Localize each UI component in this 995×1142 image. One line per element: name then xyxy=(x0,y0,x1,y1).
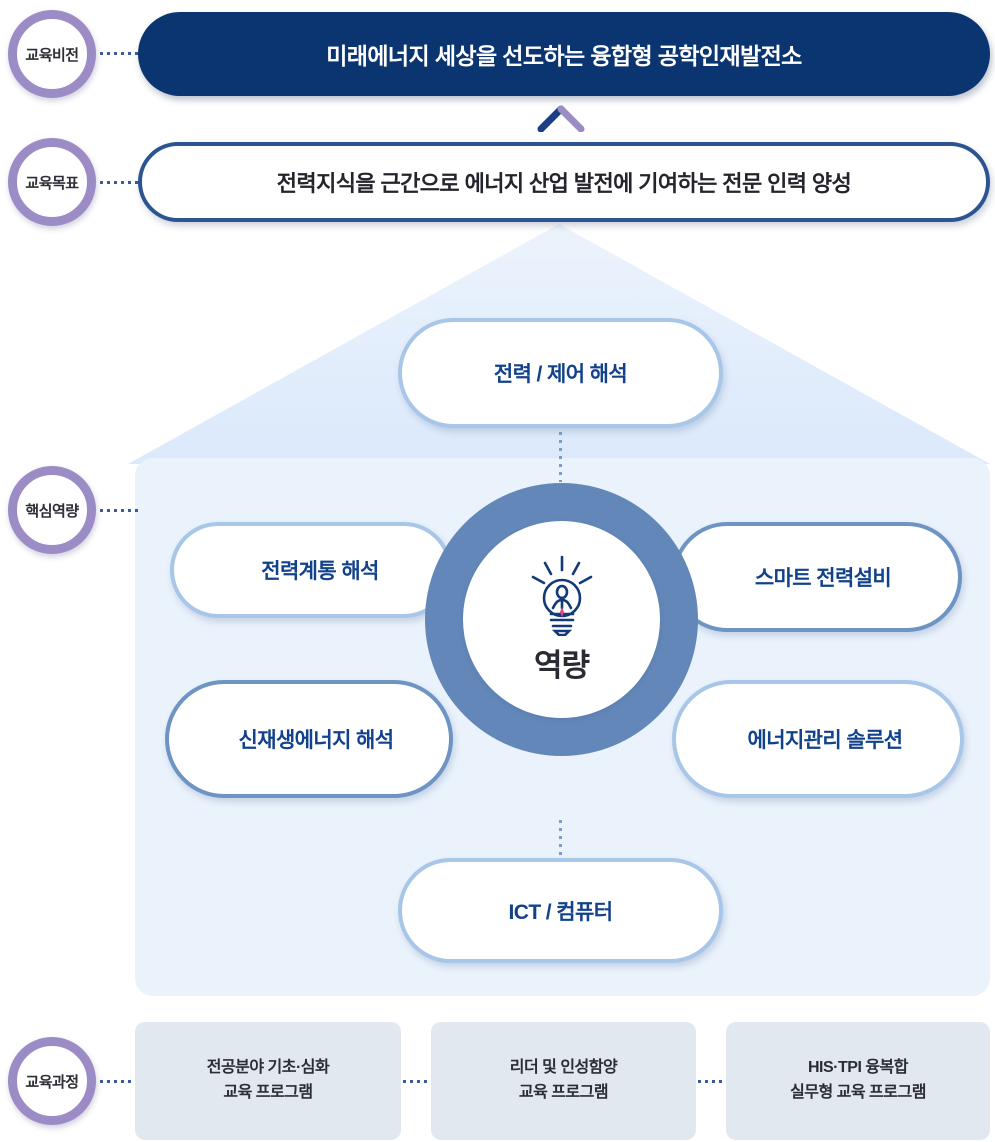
diagram-canvas: 교육비전 미래에너지 세상을 선도하는 융합형 공학인재발전소 교육목표 전력지… xyxy=(0,0,995,1142)
capability-pill-right-upper[interactable]: 스마트 전력설비 xyxy=(672,522,962,632)
capability-pill-top[interactable]: 전력 / 제어 해석 xyxy=(398,318,723,428)
label-core-text: 핵심역량 xyxy=(25,500,78,521)
curriculum-box-1[interactable]: 전공분야 기초·심화 교육 프로그램 xyxy=(135,1022,401,1140)
vision-banner: 미래에너지 세상을 선도하는 융합형 공학인재발전소 xyxy=(138,12,990,96)
label-circle-vision: 교육비전 xyxy=(8,10,96,98)
label-vision-text: 교육비전 xyxy=(25,44,78,65)
core-center-label: 역량 xyxy=(534,640,589,685)
core-ring-inner: 역량 xyxy=(463,521,660,718)
capability-label-top: 전력 / 제어 해석 xyxy=(494,358,627,388)
capability-pill-bottom[interactable]: ICT / 컴퓨터 xyxy=(398,858,723,963)
spoke-top xyxy=(559,432,562,482)
lightbulb-rocket-icon xyxy=(527,554,597,636)
capability-pill-left-lower[interactable]: 신재생에너지 해석 xyxy=(165,680,453,798)
label-curriculum-text: 교육과정 xyxy=(25,1071,78,1092)
connector-curriculum xyxy=(100,1080,138,1083)
connector-goal xyxy=(100,181,142,184)
capability-label-bottom: ICT / 컴퓨터 xyxy=(509,896,613,926)
label-goal-text: 교육목표 xyxy=(25,172,78,193)
vision-text: 미래에너지 세상을 선도하는 융합형 공학인재발전소 xyxy=(326,37,801,71)
goal-banner: 전력지식을 근간으로 에너지 산업 발전에 기여하는 전문 인력 양성 xyxy=(138,142,990,222)
label-circle-curriculum: 교육과정 xyxy=(8,1037,96,1125)
curriculum-box-2-line1: 리더 및 인성함양 xyxy=(510,1056,617,1081)
connector-vision xyxy=(100,52,142,55)
capability-label-left-lower: 신재생에너지 해석 xyxy=(239,724,394,754)
curriculum-box-2[interactable]: 리더 및 인성함양 교육 프로그램 xyxy=(431,1022,696,1140)
chevron-up-icon xyxy=(537,104,585,132)
capability-pill-left-upper[interactable]: 전력계통 해석 xyxy=(170,522,452,618)
label-circle-goal: 교육목표 xyxy=(8,138,96,226)
curriculum-box-3-line2: 실무형 교육 프로그램 xyxy=(790,1081,926,1106)
curriculum-box-1-line1: 전공분야 기초·심화 xyxy=(207,1056,330,1081)
curriculum-box-2-line2: 교육 프로그램 xyxy=(519,1081,608,1106)
label-circle-core: 핵심역량 xyxy=(8,466,96,554)
capability-label-right-upper: 스마트 전력설비 xyxy=(755,562,891,592)
capability-label-left-upper: 전력계통 해석 xyxy=(261,555,379,585)
connector-core xyxy=(100,509,142,512)
capability-label-right-lower: 에너지관리 솔루션 xyxy=(748,724,903,754)
curriculum-box-3[interactable]: HIS·TPI 융복합 실무형 교육 프로그램 xyxy=(726,1022,990,1140)
connector-curriculum-1-2 xyxy=(403,1080,429,1083)
goal-text: 전력지식을 근간으로 에너지 산업 발전에 기여하는 전문 인력 양성 xyxy=(277,166,851,198)
connector-curriculum-2-3 xyxy=(698,1080,724,1083)
spoke-bottom xyxy=(559,820,562,862)
capability-pill-right-lower[interactable]: 에너지관리 솔루션 xyxy=(672,680,964,798)
curriculum-box-1-line2: 교육 프로그램 xyxy=(223,1081,312,1106)
core-ring: 역량 xyxy=(425,483,698,756)
curriculum-box-3-line1: HIS·TPI 융복합 xyxy=(808,1056,908,1081)
